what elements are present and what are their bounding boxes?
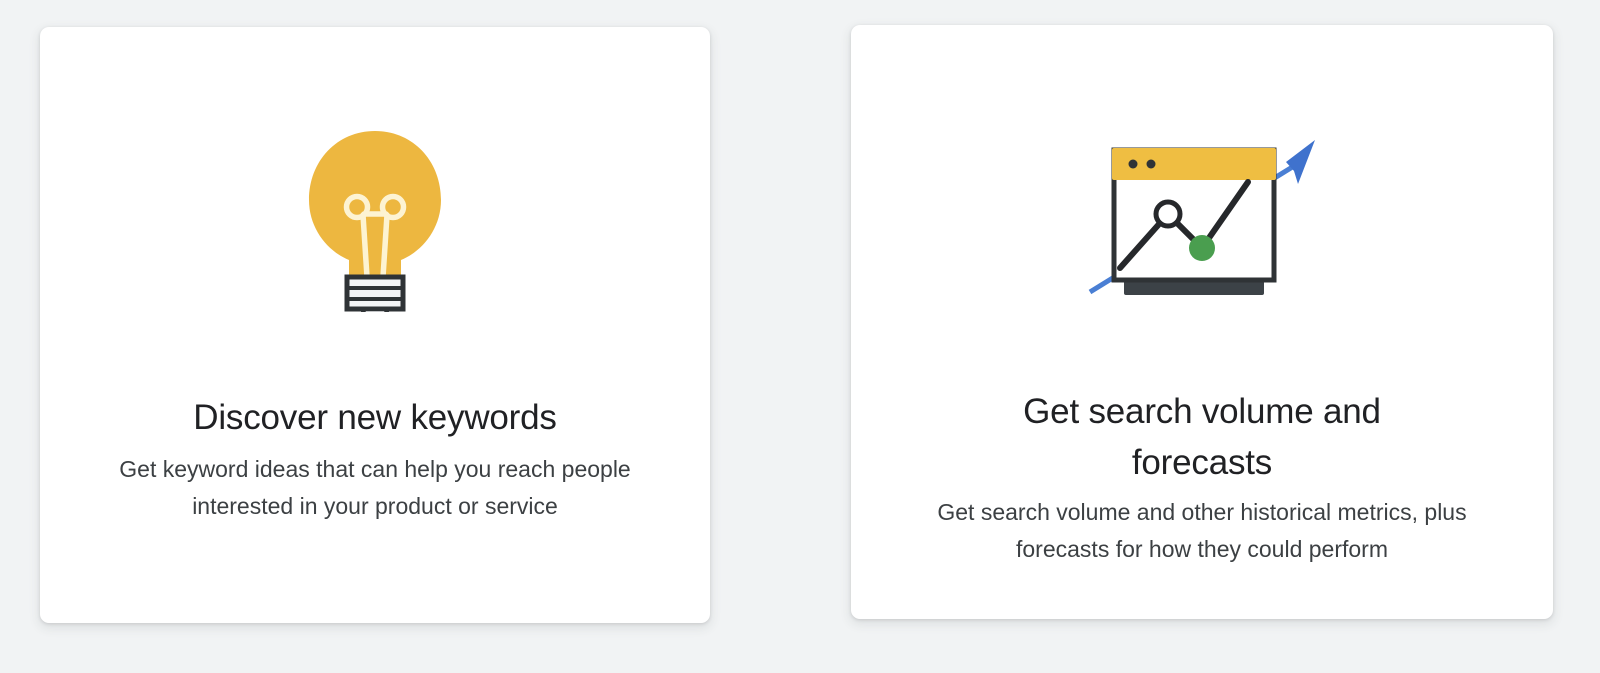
card-title: Discover new keywords	[153, 392, 596, 443]
window-dot-2	[1147, 160, 1156, 169]
option-card-grid: Discover new keywords Get keyword ideas …	[0, 0, 1600, 673]
card-icon-container	[851, 25, 1553, 308]
card-title: Get search volume and forecasts	[922, 386, 1482, 488]
card-description: Get search volume and other historical m…	[902, 494, 1502, 568]
card-icon-container	[40, 27, 710, 312]
window-dot-1	[1129, 160, 1138, 169]
chart-marker-green	[1189, 235, 1215, 261]
chart-trend-window-icon	[1072, 128, 1332, 308]
lightbulb-icon	[295, 127, 455, 312]
card-get-search-volume-and-forecasts[interactable]: Get search volume and forecasts Get sear…	[851, 25, 1553, 619]
card-description: Get keyword ideas that can help you reac…	[75, 451, 675, 525]
chart-marker-hollow	[1156, 202, 1180, 226]
card-discover-new-keywords[interactable]: Discover new keywords Get keyword ideas …	[40, 27, 710, 623]
